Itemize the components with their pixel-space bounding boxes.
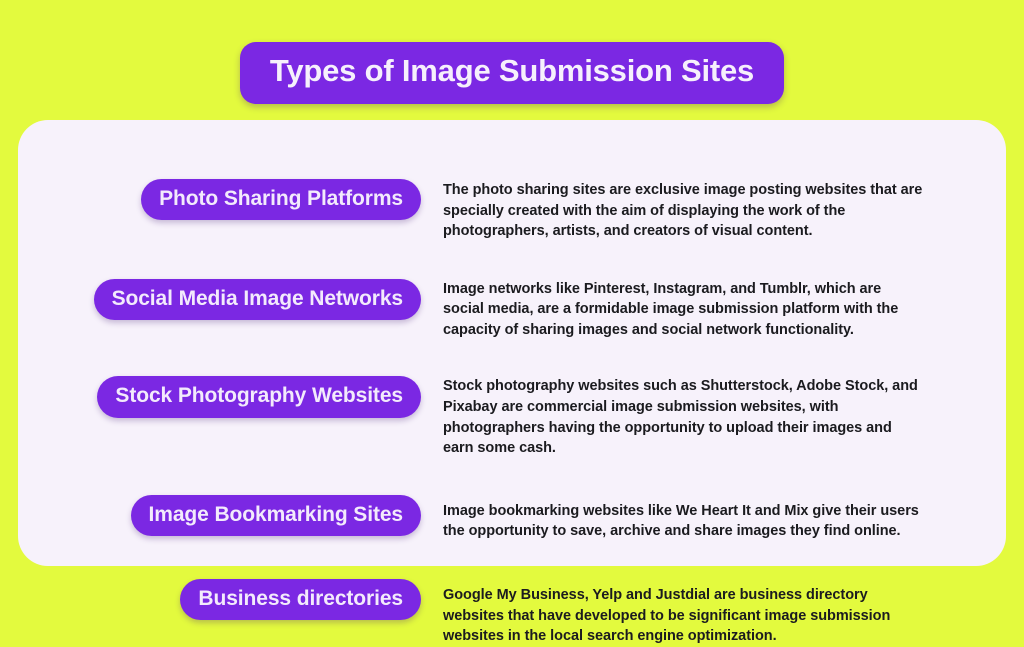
list-item: Social Media Image Networks Image networ… bbox=[18, 279, 1006, 341]
category-description: The photo sharing sites are exclusive im… bbox=[443, 180, 980, 242]
description-column: Image bookmarking websites like We Heart… bbox=[421, 495, 1006, 542]
category-label-photo-sharing-platforms: Photo Sharing Platforms bbox=[141, 179, 421, 220]
description-column: Image networks like Pinterest, Instagram… bbox=[421, 279, 1006, 341]
list-item: Image Bookmarking Sites Image bookmarkin… bbox=[18, 495, 1006, 542]
infographic-root: Types of Image Submission Sites Photo Sh… bbox=[0, 0, 1024, 597]
label-column: Image Bookmarking Sites bbox=[18, 495, 421, 536]
category-label-stock-photography-websites: Stock Photography Websites bbox=[97, 376, 421, 417]
category-description: Google My Business, Yelp and Justdial ar… bbox=[443, 585, 980, 647]
description-column: The photo sharing sites are exclusive im… bbox=[421, 179, 1006, 242]
category-label-business-directories: Business directories bbox=[180, 579, 421, 620]
category-description: Stock photography websites such as Shutt… bbox=[443, 376, 980, 458]
label-column: Stock Photography Websites bbox=[18, 376, 421, 417]
label-column: Business directories bbox=[18, 579, 421, 620]
page-title: Types of Image Submission Sites bbox=[240, 42, 784, 104]
list-item: Business directories Google My Business,… bbox=[18, 579, 1006, 647]
category-description: Image networks like Pinterest, Instagram… bbox=[443, 279, 980, 341]
description-column: Google My Business, Yelp and Justdial ar… bbox=[421, 579, 1006, 647]
description-column: Stock photography websites such as Shutt… bbox=[421, 376, 1006, 458]
category-label-social-media-image-networks: Social Media Image Networks bbox=[94, 279, 421, 320]
list-item: Photo Sharing Platforms The photo sharin… bbox=[18, 179, 1006, 242]
label-column: Photo Sharing Platforms bbox=[18, 179, 421, 220]
category-label-image-bookmarking-sites: Image Bookmarking Sites bbox=[131, 495, 421, 536]
content-card: Photo Sharing Platforms The photo sharin… bbox=[18, 120, 1006, 566]
rows-list: Photo Sharing Platforms The photo sharin… bbox=[18, 120, 1006, 647]
category-description: Image bookmarking websites like We Heart… bbox=[443, 501, 980, 542]
label-column: Social Media Image Networks bbox=[18, 279, 421, 320]
title-container: Types of Image Submission Sites bbox=[0, 42, 1024, 104]
list-item: Stock Photography Websites Stock photogr… bbox=[18, 376, 1006, 458]
